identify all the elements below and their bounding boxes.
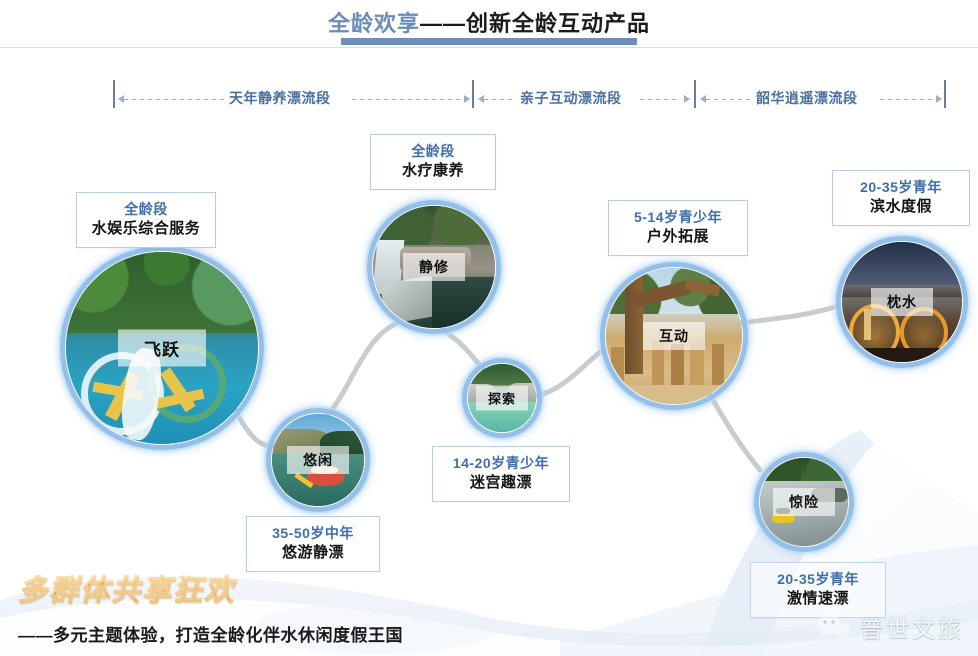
node-youxian[interactable]: 悠闲 <box>266 408 370 512</box>
node-feiyue[interactable]: 飞跃 <box>60 246 264 450</box>
node-tansuo-caption: 探索 <box>476 386 528 411</box>
callout-outdoor-expansion[interactable]: 5-14岁青少年 户外拓展 <box>608 200 748 256</box>
page-title: 全龄欢享——创新全龄互动产品 <box>0 6 978 38</box>
callout-product: 迷宫趣漂 <box>443 473 559 493</box>
footer-block: 多群体共享狂欢 ——多元主题体验，打造全龄化伴水休闲度假王国 <box>18 567 403 646</box>
segment-label-2: 韶华逍遥漂流段 <box>756 88 858 108</box>
node-jingxiu[interactable]: 静修 <box>367 200 501 334</box>
node-youxian-caption: 悠闲 <box>287 446 349 474</box>
callout-audience: 5-14岁青少年 <box>619 208 737 227</box>
watermark: 普世文旅 <box>816 610 964 644</box>
node-jingxian-caption: 惊险 <box>773 488 835 516</box>
segment-arrow-1-right <box>464 95 470 103</box>
callout-product: 滨水度假 <box>843 197 959 217</box>
segment-tick-2 <box>694 80 696 108</box>
callout-audience: 20-35岁青年 <box>843 178 959 197</box>
watermark-label: 普世文旅 <box>860 610 964 644</box>
callout-product: 悠游静漂 <box>257 543 369 563</box>
wechat-icon <box>816 612 852 642</box>
node-jingxian[interactable]: 惊险 <box>754 452 854 552</box>
callout-leisure-drift[interactable]: 35-50岁中年 悠游静漂 <box>246 516 380 572</box>
segment-tick-1 <box>472 80 474 108</box>
callout-spa-wellness[interactable]: 全龄段 水疗康养 <box>370 134 496 190</box>
callout-waterfront-vacation[interactable]: 20-35岁青年 滨水度假 <box>832 170 970 226</box>
segment-dash-2a <box>484 99 516 100</box>
segment-arrow-1-left <box>118 95 124 103</box>
node-hudong-caption: 互动 <box>643 322 705 350</box>
segment-dash-3b <box>880 99 936 100</box>
segment-label-0: 天年静养漂流段 <box>229 88 331 108</box>
segment-dash-1a <box>124 99 224 100</box>
node-zhenshui[interactable]: 枕水 <box>836 236 968 368</box>
callout-water-entertainment[interactable]: 全龄段 水娱乐综合服务 <box>76 192 216 248</box>
segment-arrow-2-right <box>684 95 690 103</box>
segment-dash-3a <box>706 99 750 100</box>
callout-product: 激情速漂 <box>761 589 875 609</box>
node-tansuo[interactable]: 探索 <box>462 358 542 438</box>
callout-maze-drift[interactable]: 14-20岁青少年 迷宫趣漂 <box>432 446 570 502</box>
segment-arrow-3-left <box>700 95 706 103</box>
footer-headline: 多群体共享狂欢 <box>18 567 403 609</box>
segment-dash-2b <box>640 99 680 100</box>
node-jingxiu-caption: 静修 <box>403 253 465 281</box>
page-title-highlight: 全龄欢享 <box>328 11 420 36</box>
node-feiyue-caption: 飞跃 <box>118 330 206 367</box>
callout-product: 户外拓展 <box>619 227 737 247</box>
title-underline-bar <box>341 38 637 45</box>
title-divider <box>0 47 978 48</box>
node-hudong[interactable]: 互动 <box>600 262 748 410</box>
segment-arrow-2-left <box>478 95 484 103</box>
footer-subline: ——多元主题体验，打造全龄化伴水休闲度假王国 <box>18 621 403 646</box>
segment-label-1: 亲子互动漂流段 <box>520 88 622 108</box>
callout-audience: 全龄段 <box>87 200 205 219</box>
segment-dash-1b <box>352 99 464 100</box>
slide-title-area: 全龄欢享——创新全龄互动产品 <box>0 2 978 46</box>
segment-arrow-3-right <box>936 95 942 103</box>
callout-audience: 35-50岁中年 <box>257 524 369 543</box>
callout-audience: 全龄段 <box>381 142 485 161</box>
node-zhenshui-caption: 枕水 <box>871 288 933 316</box>
page-title-rest: ——创新全龄互动产品 <box>420 11 650 36</box>
callout-audience: 14-20岁青少年 <box>443 454 559 473</box>
callout-audience: 20-35岁青年 <box>761 570 875 589</box>
segment-tick-end <box>944 80 946 108</box>
segment-tick-start <box>113 80 115 108</box>
callout-product: 水疗康养 <box>381 161 485 181</box>
callout-product: 水娱乐综合服务 <box>87 219 205 239</box>
